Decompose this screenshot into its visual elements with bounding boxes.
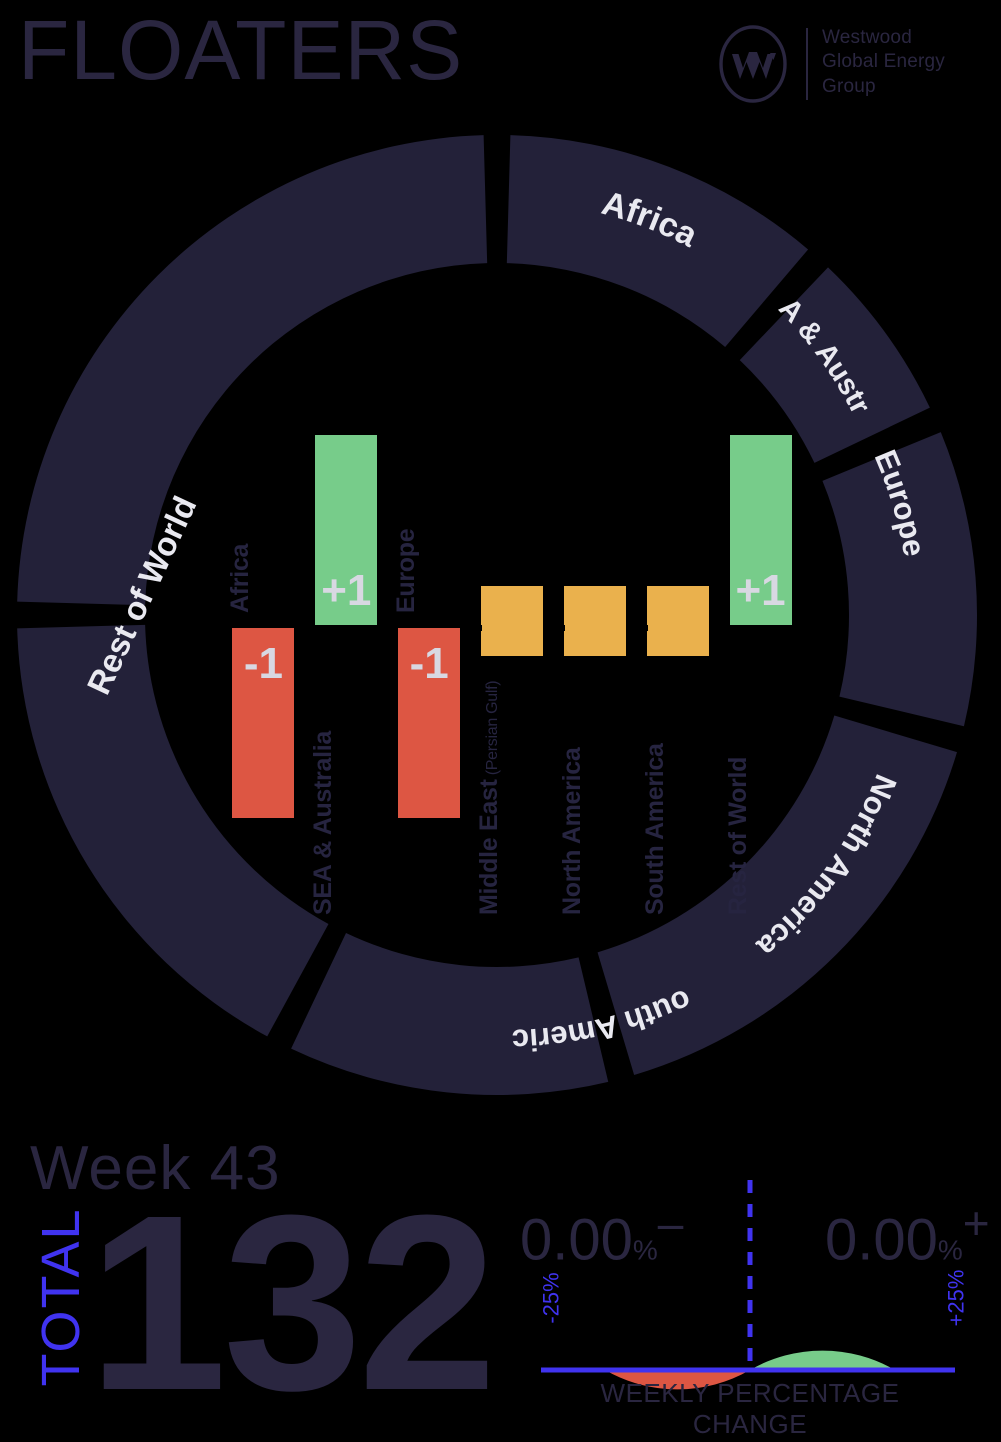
donut-segment[interactable] [507,135,808,347]
bar-value-label: -1 [232,642,294,686]
bar-category-name: Rest of World [724,757,752,915]
bar-category-label: SEA & Australia [309,731,338,915]
bar-category-name: Europe [392,529,420,613]
gauge-negative-sign: – [658,1197,684,1249]
logo-text: Westwood Global Energy Group [822,26,945,99]
bar-category-name: North America [558,748,586,915]
gauge-negative-percent: % [633,1234,658,1265]
bar-category-name: Africa [226,544,254,613]
donut-segment[interactable] [291,933,608,1095]
bar-value-label: -1 [398,642,460,686]
gauge-positive-percent: % [938,1234,963,1265]
logo-line-3: Group [822,75,945,99]
westwood-logo: Westwood Global Energy Group [718,20,948,110]
gauge-positive-number: 0.00 [825,1207,938,1272]
bar[interactable]: +1 [730,435,792,625]
bar[interactable]: -1 [398,628,460,818]
gauge-positive-sign: + [963,1197,990,1249]
bar[interactable] [647,586,709,656]
logo-line-1: Westwood [822,26,945,50]
bar-category-sublabel: (Persian Gulf) [484,681,501,780]
bar[interactable]: +1 [315,435,377,625]
bar-category-name: Middle East [475,779,503,915]
gauge-positive-half [750,1351,895,1370]
gauge-positive-value: 0.00%+ [825,1200,990,1269]
page-title: FLOATERS [18,8,463,92]
logo-divider [806,28,808,100]
bar-category-label: North America [558,748,587,915]
total-value: 132 [88,1178,493,1428]
axis-cap-left [210,607,216,631]
bar-value-label: +1 [730,569,792,613]
bar[interactable] [481,586,543,656]
bar-category-label: Europe [392,529,421,613]
gauge-negative-number: 0.00 [520,1207,633,1272]
axis-tick [555,625,565,631]
axis-tick [638,625,648,631]
bar-category-label: Africa [226,544,255,613]
bar-category-label: South America [641,743,670,915]
logo-line-2: Global Energy [822,50,945,74]
bar[interactable]: -1 [232,628,294,818]
gauge-max-label: +25% [943,1270,969,1327]
header: FLOATERS Westwood Global Energy Group [0,0,1001,130]
bar-category-name: SEA & Australia [309,731,337,915]
bar-chart: -1+1-1+1 AfricaSEA & AustraliaEuropeMidd… [195,420,805,950]
westwood-w-logo-icon [718,24,788,104]
bar[interactable] [564,586,626,656]
total-word-label: TOTAL [34,1192,88,1402]
axis-tick [472,625,482,631]
bar-category-label: Rest of World [724,757,753,915]
bar-category-label: Middle East (Persian Gulf) [475,681,504,915]
gauge-min-label: -25% [539,1272,565,1323]
bar-value-label: +1 [315,569,377,613]
gauge-negative-value: 0.00%– [520,1200,683,1269]
bar-category-name: South America [641,743,669,915]
